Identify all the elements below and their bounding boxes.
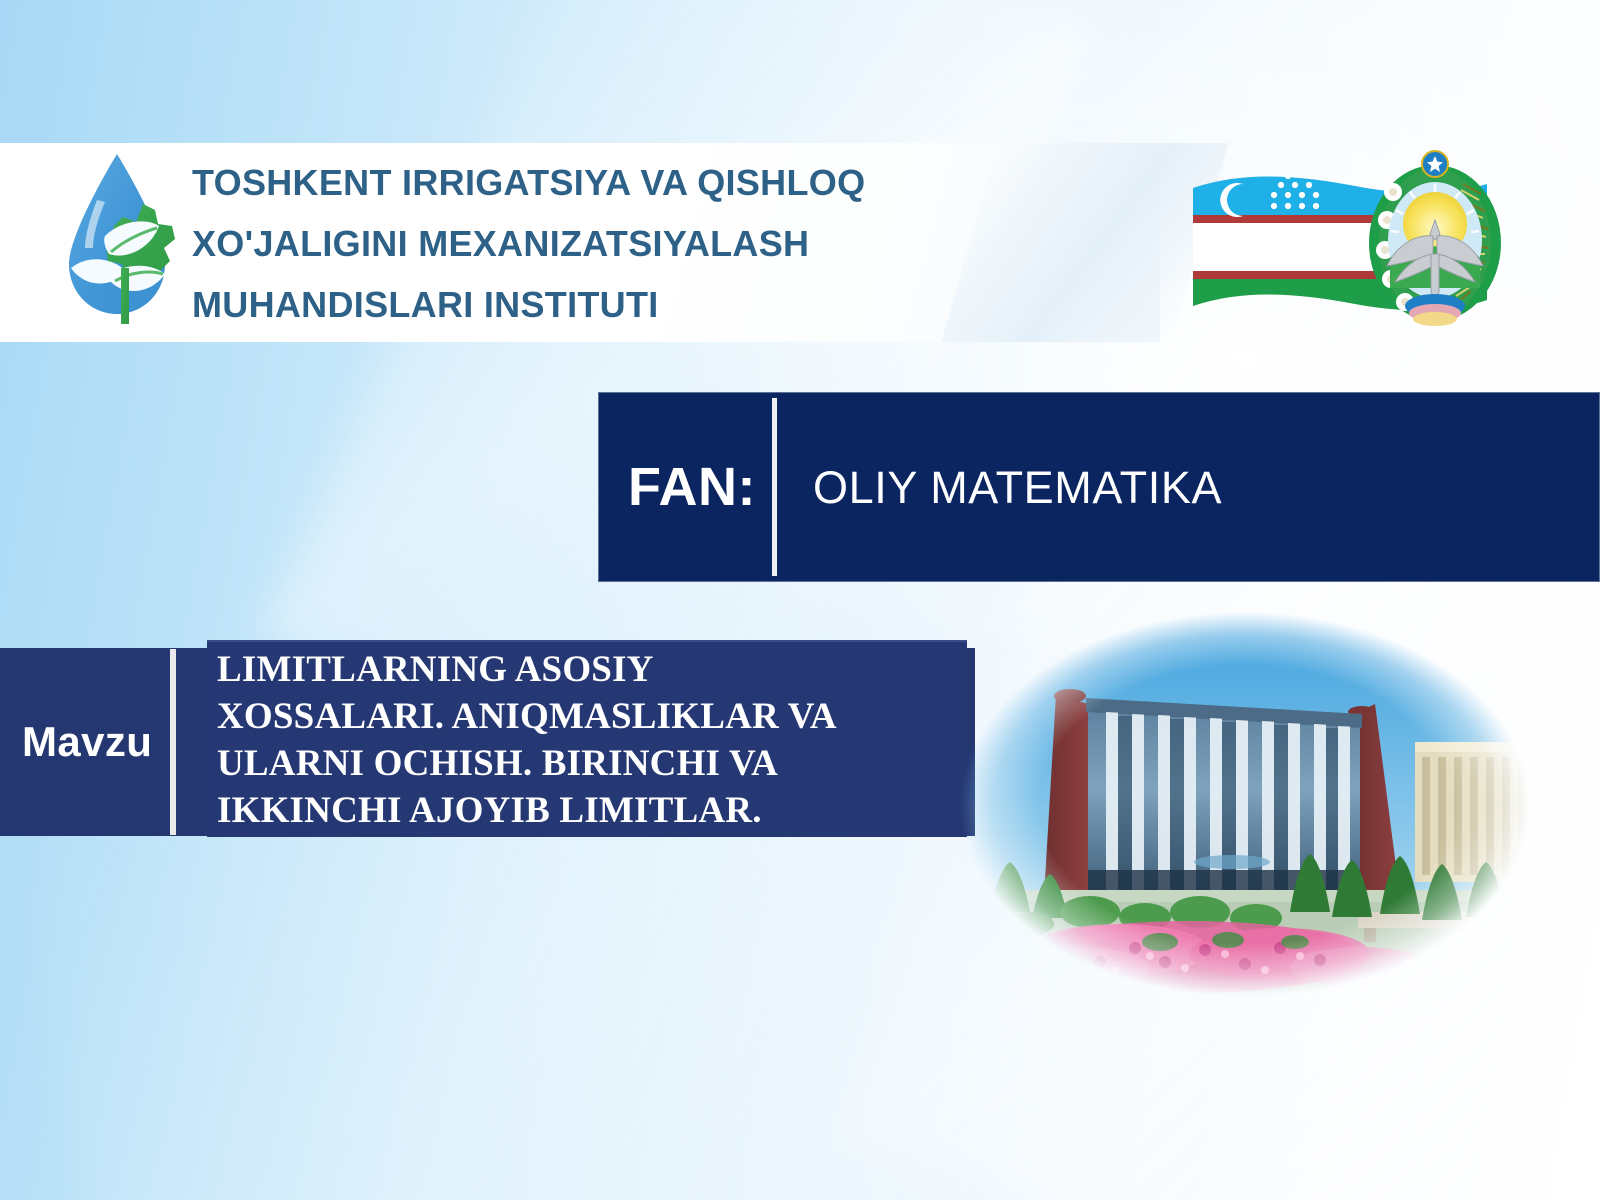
topic-text: LIMITLARNING ASOSIY XOSSALARI. ANIQMASLI…	[207, 646, 851, 834]
subject-banner: FAN: OLIY MATEMATIKA	[598, 392, 1600, 582]
presentation-slide: TOSHKENT IRRIGATSIYA VA QISHLOQ XO'JALIG…	[0, 0, 1600, 1200]
institute-logo-icon	[55, 148, 187, 330]
subject-divider	[772, 398, 777, 576]
subject-label: FAN:	[598, 460, 756, 514]
subject-value: OLIY MATEMATIKA	[813, 465, 1222, 510]
topic-line-1: LIMITLARNING ASOSIY	[217, 646, 837, 693]
uzbekistan-flag-icon	[1185, 150, 1505, 345]
topic-label: Mavzu	[0, 721, 152, 763]
topic-line-3: ULARNI OCHISH. BIRINCHI VA	[217, 740, 837, 787]
topic-divider	[170, 649, 176, 835]
institute-name-line-2: XO'JALIGINI MEXANIZATSIYALASH	[192, 213, 1102, 274]
topic-line-4: IKKINCHI AJOYIB LIMITLAR.	[217, 787, 837, 834]
topic-line-2: XOSSALARI. ANIQMASLIKLAR VA	[217, 693, 837, 740]
institute-building-photo	[960, 612, 1530, 997]
institute-name-line-3: MUHANDISLARI INSTITUTI	[192, 274, 1102, 335]
institute-name: TOSHKENT IRRIGATSIYA VA QISHLOQ XO'JALIG…	[192, 152, 1102, 335]
topic-text-panel: LIMITLARNING ASOSIY XOSSALARI. ANIQMASLI…	[207, 640, 967, 837]
institute-name-line-1: TOSHKENT IRRIGATSIYA VA QISHLOQ	[192, 152, 1102, 213]
